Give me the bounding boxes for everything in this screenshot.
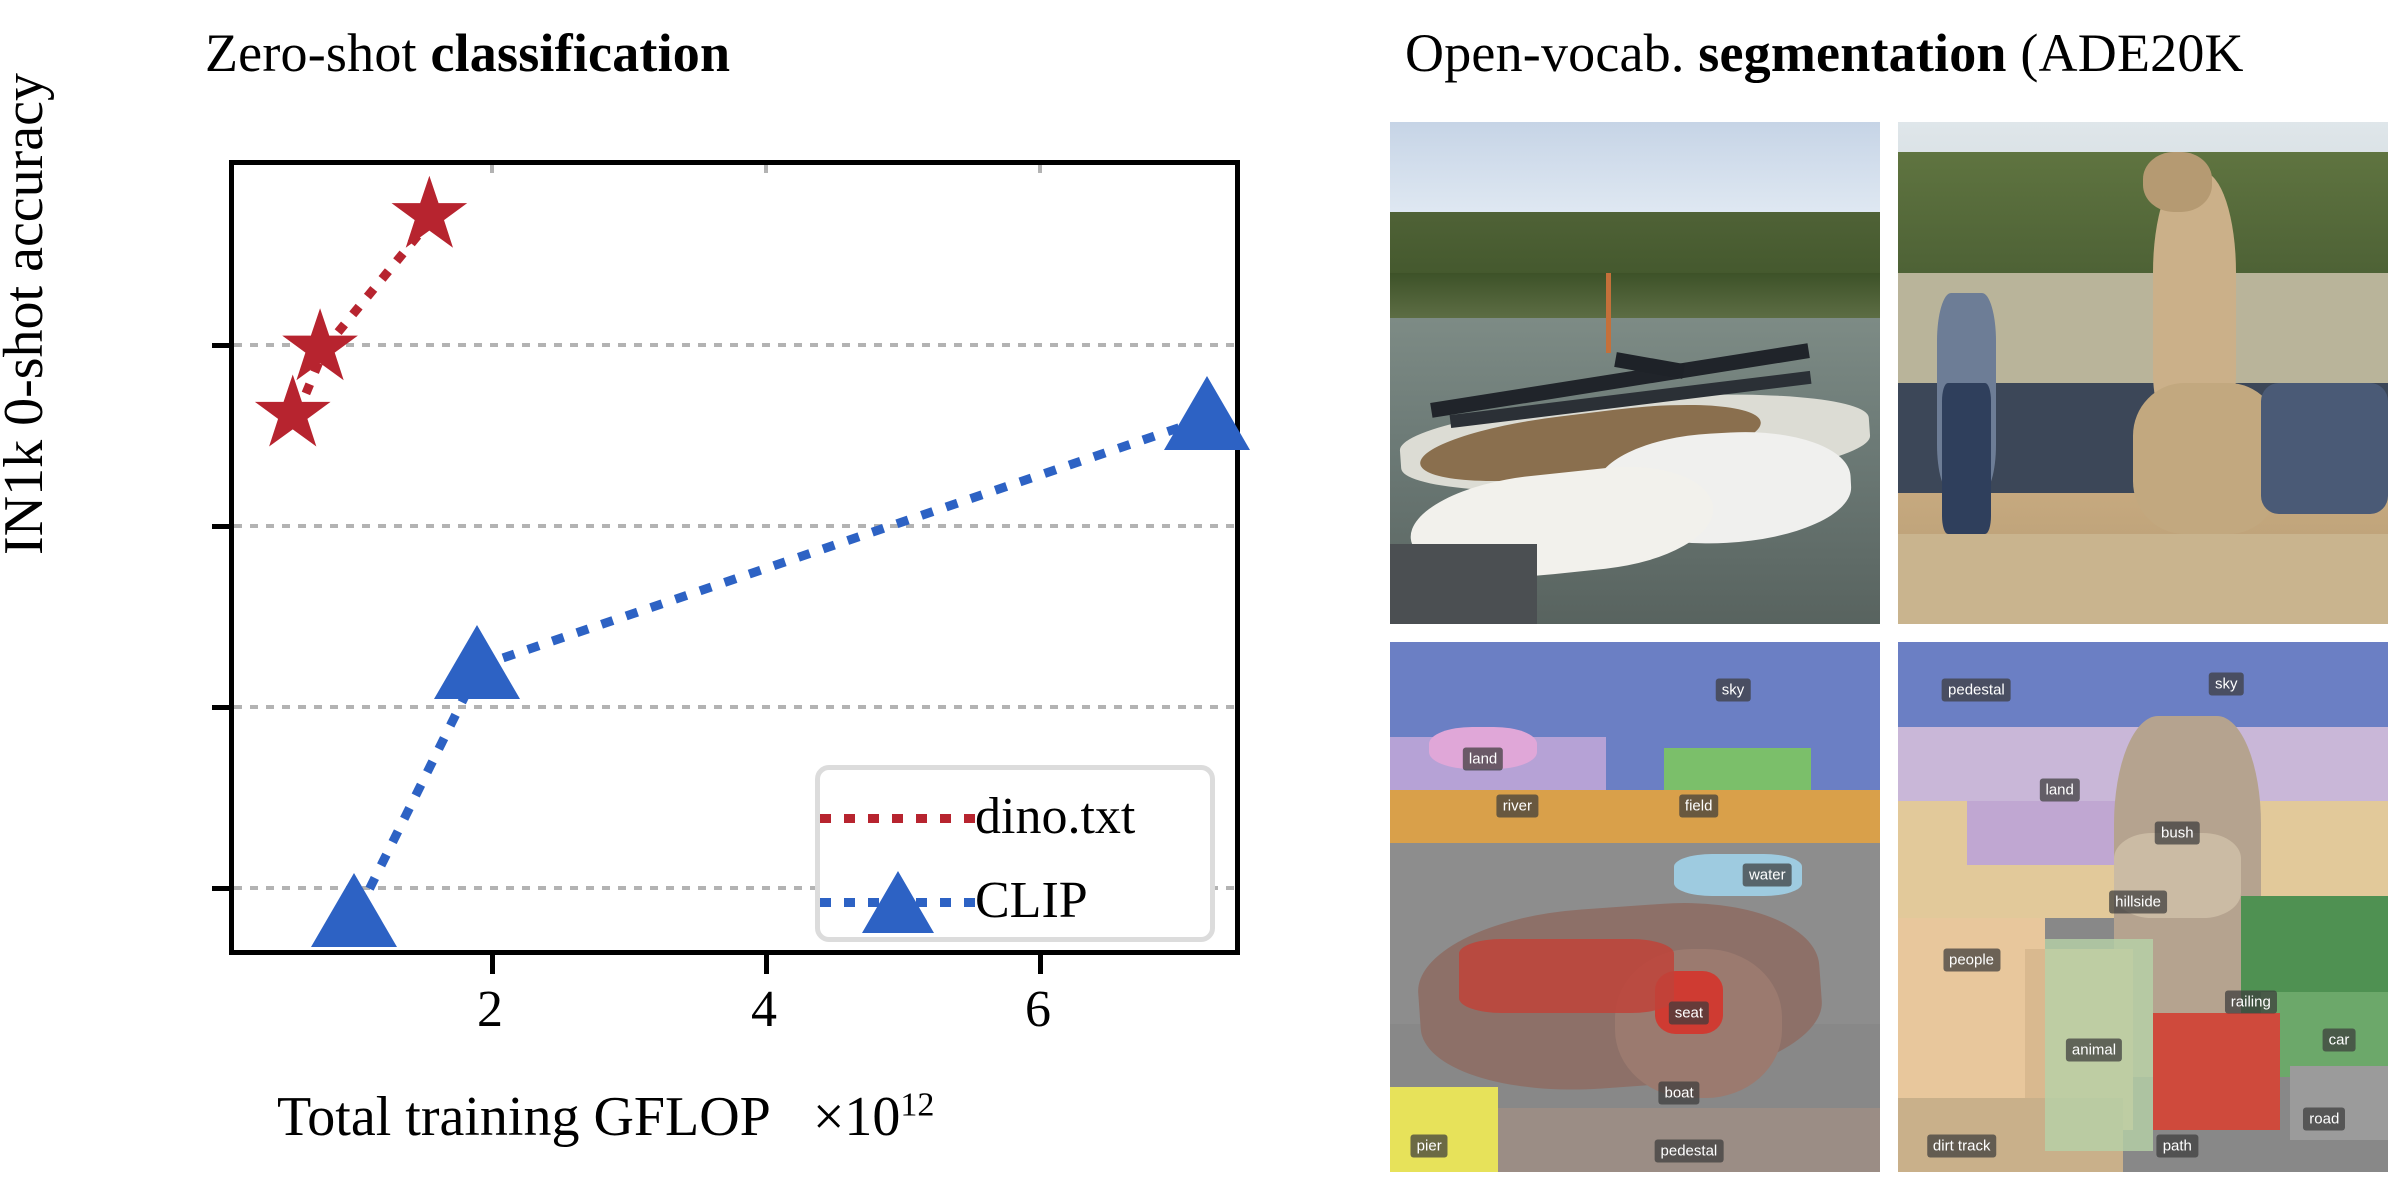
seg-label: path	[2157, 1134, 2198, 1157]
star-icon	[390, 176, 468, 254]
x-tick-4	[764, 950, 769, 974]
triangle-icon	[1164, 376, 1250, 450]
x-axis-exponent: 12	[900, 1086, 934, 1123]
seg-label: railing	[2225, 991, 2277, 1014]
x-tick-6	[1038, 950, 1043, 974]
triangle-icon	[311, 873, 397, 947]
legend-dash-dino	[820, 814, 975, 823]
legend-entry-dino[interactable]: dino.txt	[820, 772, 1210, 860]
x-axis-label: Total training GFLOP ×1012	[277, 1085, 934, 1149]
zero-shot-classification-chart: IN1k 0-shot accuracy Total training GFLO…	[0, 0, 1260, 1200]
seg-label: water	[1743, 864, 1792, 887]
seg-label: bush	[2155, 821, 2200, 844]
right-title-plain-post: (ADE20K	[2007, 23, 2244, 83]
right-panel-title: Open-vocab. segmentation (ADE20K	[1405, 22, 2244, 84]
gridline-y-78	[234, 524, 1235, 528]
seg-label: pier	[1411, 1134, 1448, 1157]
triangle-icon	[898, 902, 970, 964]
seg-label: seat	[1669, 1002, 1709, 1025]
legend-entry-clip[interactable]: CLIP	[820, 856, 1210, 944]
seg-label: people	[1943, 949, 2000, 972]
figure-root: Zero-shot classification IN1k 0-shot acc…	[0, 0, 2388, 1200]
seg-label: field	[1679, 795, 1719, 818]
right-title-bold: segmentation	[1698, 23, 2006, 83]
seg-label: animal	[2066, 1039, 2122, 1062]
giraffe-street-segmentation: pedestal sky land bush hillside people r…	[1898, 642, 2388, 1172]
seg-label: boat	[1658, 1081, 1699, 1104]
seg-label: pedestal	[1942, 678, 2011, 701]
x-tick-label-4: 4	[751, 980, 777, 1039]
series-line-clip	[477, 413, 1207, 661]
star-icon	[281, 308, 359, 386]
x-tick-label-6: 6	[1025, 980, 1051, 1039]
seg-label: hillside	[2109, 890, 2167, 913]
seg-label: river	[1497, 795, 1538, 818]
y-tick-74	[212, 886, 234, 891]
seg-label: sky	[1716, 678, 1751, 701]
seg-label: pedestal	[1655, 1139, 1724, 1162]
gridline-x-4	[764, 165, 768, 950]
chart-legend[interactable]: dino.txt CLIP	[815, 765, 1215, 942]
seg-label: dirt track	[1927, 1134, 1997, 1157]
x-tick-2	[490, 950, 495, 974]
legend-marker-dino	[820, 772, 975, 860]
x-axis-label-text: Total training GFLOP	[277, 1086, 771, 1148]
seg-label: land	[2040, 779, 2080, 802]
right-title-plain-pre: Open-vocab.	[1405, 23, 1698, 83]
boats-river-photo	[1390, 122, 1880, 624]
boats-river-segmentation: sky land river field water seat boat pie…	[1390, 642, 1880, 1172]
seg-label: sky	[2209, 673, 2244, 696]
giraffe-street-photo	[1898, 122, 2388, 624]
data-point-clip-1[interactable]	[434, 625, 520, 699]
legend-label-clip: CLIP	[975, 871, 1088, 930]
legend-label-dino: dino.txt	[975, 787, 1135, 846]
legend-marker-clip	[820, 856, 975, 944]
data-point-clip-0[interactable]	[311, 873, 397, 947]
gridline-y-80	[234, 343, 1235, 347]
x-axis-exponent-prefix: ×10	[813, 1086, 901, 1148]
triangle-icon	[434, 625, 520, 699]
data-point-clip-2[interactable]	[1164, 376, 1250, 450]
gridline-x-2	[490, 165, 494, 950]
y-tick-78	[212, 524, 234, 529]
data-point-dino-txt-1[interactable]	[281, 308, 359, 386]
gridline-y-76	[234, 705, 1235, 709]
seg-label: car	[2323, 1028, 2356, 1051]
y-tick-80	[212, 343, 234, 348]
seg-label: land	[1463, 747, 1503, 770]
y-tick-76	[212, 705, 234, 710]
data-point-dino-txt-2[interactable]	[390, 176, 468, 254]
seg-label: road	[2303, 1108, 2345, 1131]
y-axis-label: IN1k 0-shot accuracy	[0, 73, 56, 555]
segmentation-image-grid: sky land river field water seat boat pie…	[1390, 122, 2388, 1185]
x-tick-label-2: 2	[477, 980, 503, 1039]
